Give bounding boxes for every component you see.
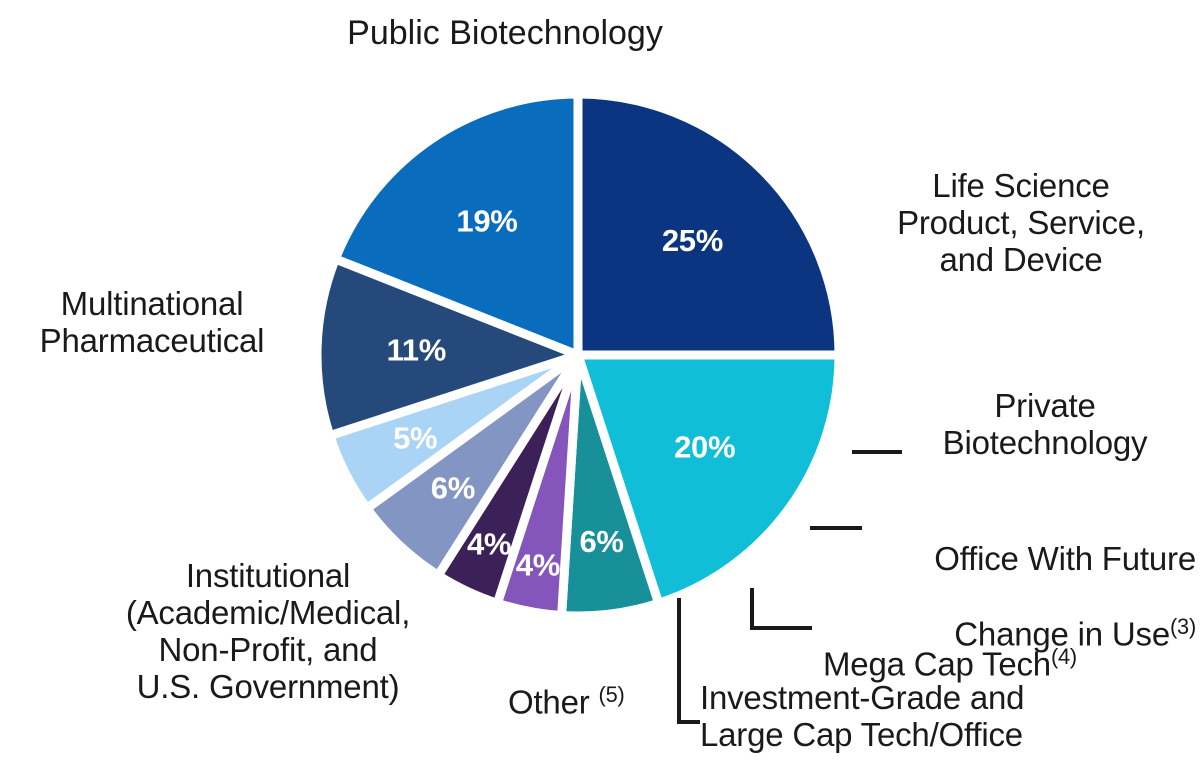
- label-life-science: Life Science Product, Service, and Devic…: [856, 168, 1186, 279]
- slice-percent-institutional: 11%: [387, 332, 446, 367]
- label-other: Other (5): [508, 646, 698, 721]
- slice-percent-multinational-pharmaceutical: 19%: [456, 204, 517, 239]
- label-mega-cap-tech: Mega Cap Tech(4): [823, 608, 1183, 683]
- slice-percent-public-biotechnology: 25%: [662, 223, 723, 258]
- footnote-marker-4: (4): [1051, 644, 1077, 669]
- label-mega-cap-tech-text: Mega Cap Tech: [823, 645, 1051, 682]
- slice-percent-life-science-product-service-device: 20%: [674, 430, 735, 465]
- label-multinational-pharmaceutical: Multinational Pharmaceutical: [8, 286, 296, 360]
- slice-percent-other: 5%: [393, 420, 437, 455]
- leader-line-mega-cap-tech: [752, 588, 812, 628]
- label-institutional: Institutional (Academic/Medical, Non-Pro…: [78, 558, 458, 706]
- footnote-marker-5: (5): [599, 682, 625, 707]
- label-investment-grade: Investment-Grade and Large Cap Tech/Offi…: [700, 680, 1170, 754]
- slice-percent-office-with-future-change-in-use: 4%: [516, 548, 560, 583]
- label-office-future-change-line1: Office With Future: [934, 540, 1196, 577]
- slice-percent-mega-cap-tech: 4%: [467, 526, 511, 561]
- label-private-biotechnology: Private Biotechnology: [900, 388, 1190, 462]
- slice-percent-investment-grade-large-cap-tech-office: 6%: [431, 471, 475, 506]
- label-other-text: Other: [508, 683, 599, 720]
- slice-percent-private-biotechnology: 6%: [579, 524, 623, 559]
- pie-chart-figure: Public Biotechnology 25%20%6%4%4%6%5%11%…: [0, 0, 1200, 783]
